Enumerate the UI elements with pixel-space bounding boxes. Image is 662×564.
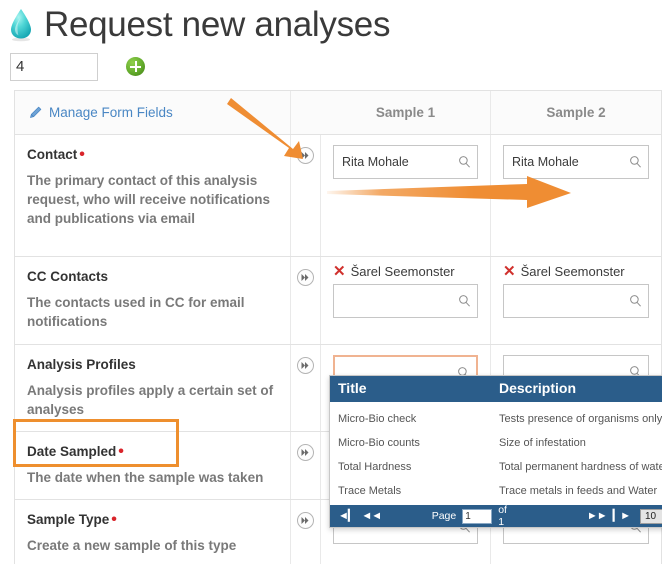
field-name: Analysis Profiles — [27, 356, 278, 373]
field-name: Contact• — [27, 146, 278, 163]
contact-input-sample-2[interactable] — [504, 146, 648, 178]
page-size-select[interactable]: 10 ▼ — [640, 509, 662, 524]
dropdown-item-title: Micro-Bio counts — [338, 437, 420, 449]
cc-contacts-field-sample-2[interactable] — [503, 284, 649, 318]
copy-across-icon — [301, 516, 310, 525]
last-page-icon[interactable]: ▎► — [613, 511, 630, 522]
field-label-cell: CC Contacts The contacts used in CC for … — [15, 257, 291, 344]
sample-1-cell: ✕ Šarel Seemonster — [321, 257, 491, 344]
sample-2-cell: ✕ Šarel Seemonster — [491, 257, 661, 344]
table-row: CC Contacts The contacts used in CC for … — [15, 257, 661, 345]
copy-across-cell — [291, 257, 321, 344]
table-header-row: Manage Form Fields Sample 1 Sample 2 — [15, 91, 661, 135]
copy-across-icon — [301, 151, 310, 160]
dropdown-item[interactable]: Total Hardness Total permanent hardness … — [330, 454, 662, 478]
field-description: Analysis profiles apply a certain set of… — [27, 381, 278, 419]
field-description: The contacts used in CC for email notifi… — [27, 293, 278, 331]
field-label-cell: Sample Type• Create a new sample of this… — [15, 500, 291, 564]
cc-contacts-input-sample-2[interactable] — [504, 285, 648, 317]
sample-count-toolbar — [0, 46, 662, 84]
page-root: Request new analyses Manage Form Fields … — [0, 0, 662, 564]
required-indicator: • — [118, 443, 124, 460]
dropdown-header-row: Title Description — [330, 376, 662, 402]
dropdown-column-description: Description — [499, 380, 576, 396]
remove-chip-icon[interactable]: ✕ — [503, 265, 516, 279]
field-description: Create a new sample of this type — [27, 536, 278, 555]
field-name: Sample Type• — [27, 511, 278, 528]
dropdown-column-title: Title — [338, 380, 367, 396]
manage-form-fields-label: Manage Form Fields — [49, 105, 173, 120]
cc-contacts-input-sample-1[interactable] — [334, 285, 477, 317]
dropdown-item-description: Total permanent hardness of water (CACO — [499, 461, 662, 473]
dropdown-item[interactable]: Micro-Bio check Tests presence of organi… — [330, 406, 662, 430]
page-label: Page — [432, 510, 457, 522]
dropdown-pagination: ◄▎ ◄◄ Page of 1 ►► ▎► 10 ▼ — [330, 505, 662, 527]
page-size-value: 10 — [645, 511, 656, 522]
cc-contact-chip-label: Šarel Seemonster — [351, 264, 455, 279]
required-indicator: • — [111, 511, 117, 528]
required-indicator: • — [79, 146, 85, 163]
copy-across-cell — [291, 135, 321, 256]
table-row: Contact• The primary contact of this ana… — [15, 135, 661, 257]
field-name-text: Date Sampled — [27, 444, 116, 459]
contact-field-sample-1[interactable] — [333, 145, 478, 179]
page-header: Request new analyses — [0, 0, 662, 46]
remove-chip-icon[interactable]: ✕ — [333, 265, 346, 279]
copy-across-button[interactable] — [297, 269, 314, 286]
field-name-text: Sample Type — [27, 512, 109, 527]
sample-2-cell — [491, 135, 661, 256]
copy-across-cell — [291, 345, 321, 431]
page-title: Request new analyses — [44, 5, 390, 45]
dropdown-item-title: Total Hardness — [338, 461, 411, 473]
copy-across-icon — [301, 361, 310, 370]
pencil-icon — [29, 106, 42, 119]
manage-form-fields-link[interactable]: Manage Form Fields — [15, 105, 173, 120]
copy-across-icon — [301, 448, 310, 457]
column-header-sample-1: Sample 1 — [376, 105, 435, 120]
field-description: The primary contact of this analysis req… — [27, 171, 278, 228]
copy-across-button[interactable] — [297, 357, 314, 374]
copy-across-button[interactable] — [297, 444, 314, 461]
field-description: The date when the sample was taken — [27, 468, 278, 487]
cc-contact-chip-label: Šarel Seemonster — [521, 264, 625, 279]
copy-across-button[interactable] — [297, 147, 314, 164]
dropdown-item-title: Trace Metals — [338, 485, 401, 497]
column-header-sample-2: Sample 2 — [546, 105, 605, 120]
field-name-text: Contact — [27, 147, 77, 162]
dropdown-rows: Micro-Bio check Tests presence of organi… — [330, 402, 662, 505]
dropdown-item-description: Size of infestation — [499, 437, 586, 449]
contact-input-sample-1[interactable] — [334, 146, 477, 178]
field-label-cell: Date Sampled• The date when the sample w… — [15, 432, 291, 499]
first-page-icon[interactable]: ◄▎ — [338, 511, 355, 522]
copy-across-cell — [291, 432, 321, 499]
copy-across-cell — [291, 500, 321, 564]
field-name: Date Sampled• — [27, 443, 278, 460]
field-name: CC Contacts — [27, 268, 278, 285]
sample-1-cell — [321, 135, 491, 256]
dropdown-item-title: Micro-Bio check — [338, 413, 416, 425]
contact-field-sample-2[interactable] — [503, 145, 649, 179]
page-total-label: of 1 — [498, 504, 515, 528]
cc-contact-chip: ✕ Šarel Seemonster — [503, 263, 649, 280]
dropdown-item-description: Tests presence of organisms only — [499, 413, 662, 425]
field-label-cell: Analysis Profiles Analysis profiles appl… — [15, 345, 291, 431]
dropdown-item[interactable]: Micro-Bio counts Size of infestation — [330, 430, 662, 454]
water-drop-icon — [8, 8, 34, 42]
dropdown-item-description: Trace metals in feeds and Water — [499, 485, 657, 497]
prev-page-icon[interactable]: ◄◄ — [361, 511, 381, 522]
field-label-cell: Contact• The primary contact of this ana… — [15, 135, 291, 256]
next-page-icon[interactable]: ►► — [587, 511, 607, 522]
cc-contacts-field-sample-1[interactable] — [333, 284, 478, 318]
analysis-profiles-dropdown: Title Description Micro-Bio check Tests … — [329, 375, 662, 528]
sample-count-input[interactable] — [10, 53, 98, 81]
copy-across-icon — [301, 273, 310, 282]
add-sample-button[interactable] — [126, 57, 145, 76]
page-number-input[interactable] — [462, 509, 492, 524]
dropdown-item[interactable]: Trace Metals Trace metals in feeds and W… — [330, 478, 662, 502]
cc-contact-chip: ✕ Šarel Seemonster — [333, 263, 478, 280]
copy-across-button[interactable] — [297, 512, 314, 529]
